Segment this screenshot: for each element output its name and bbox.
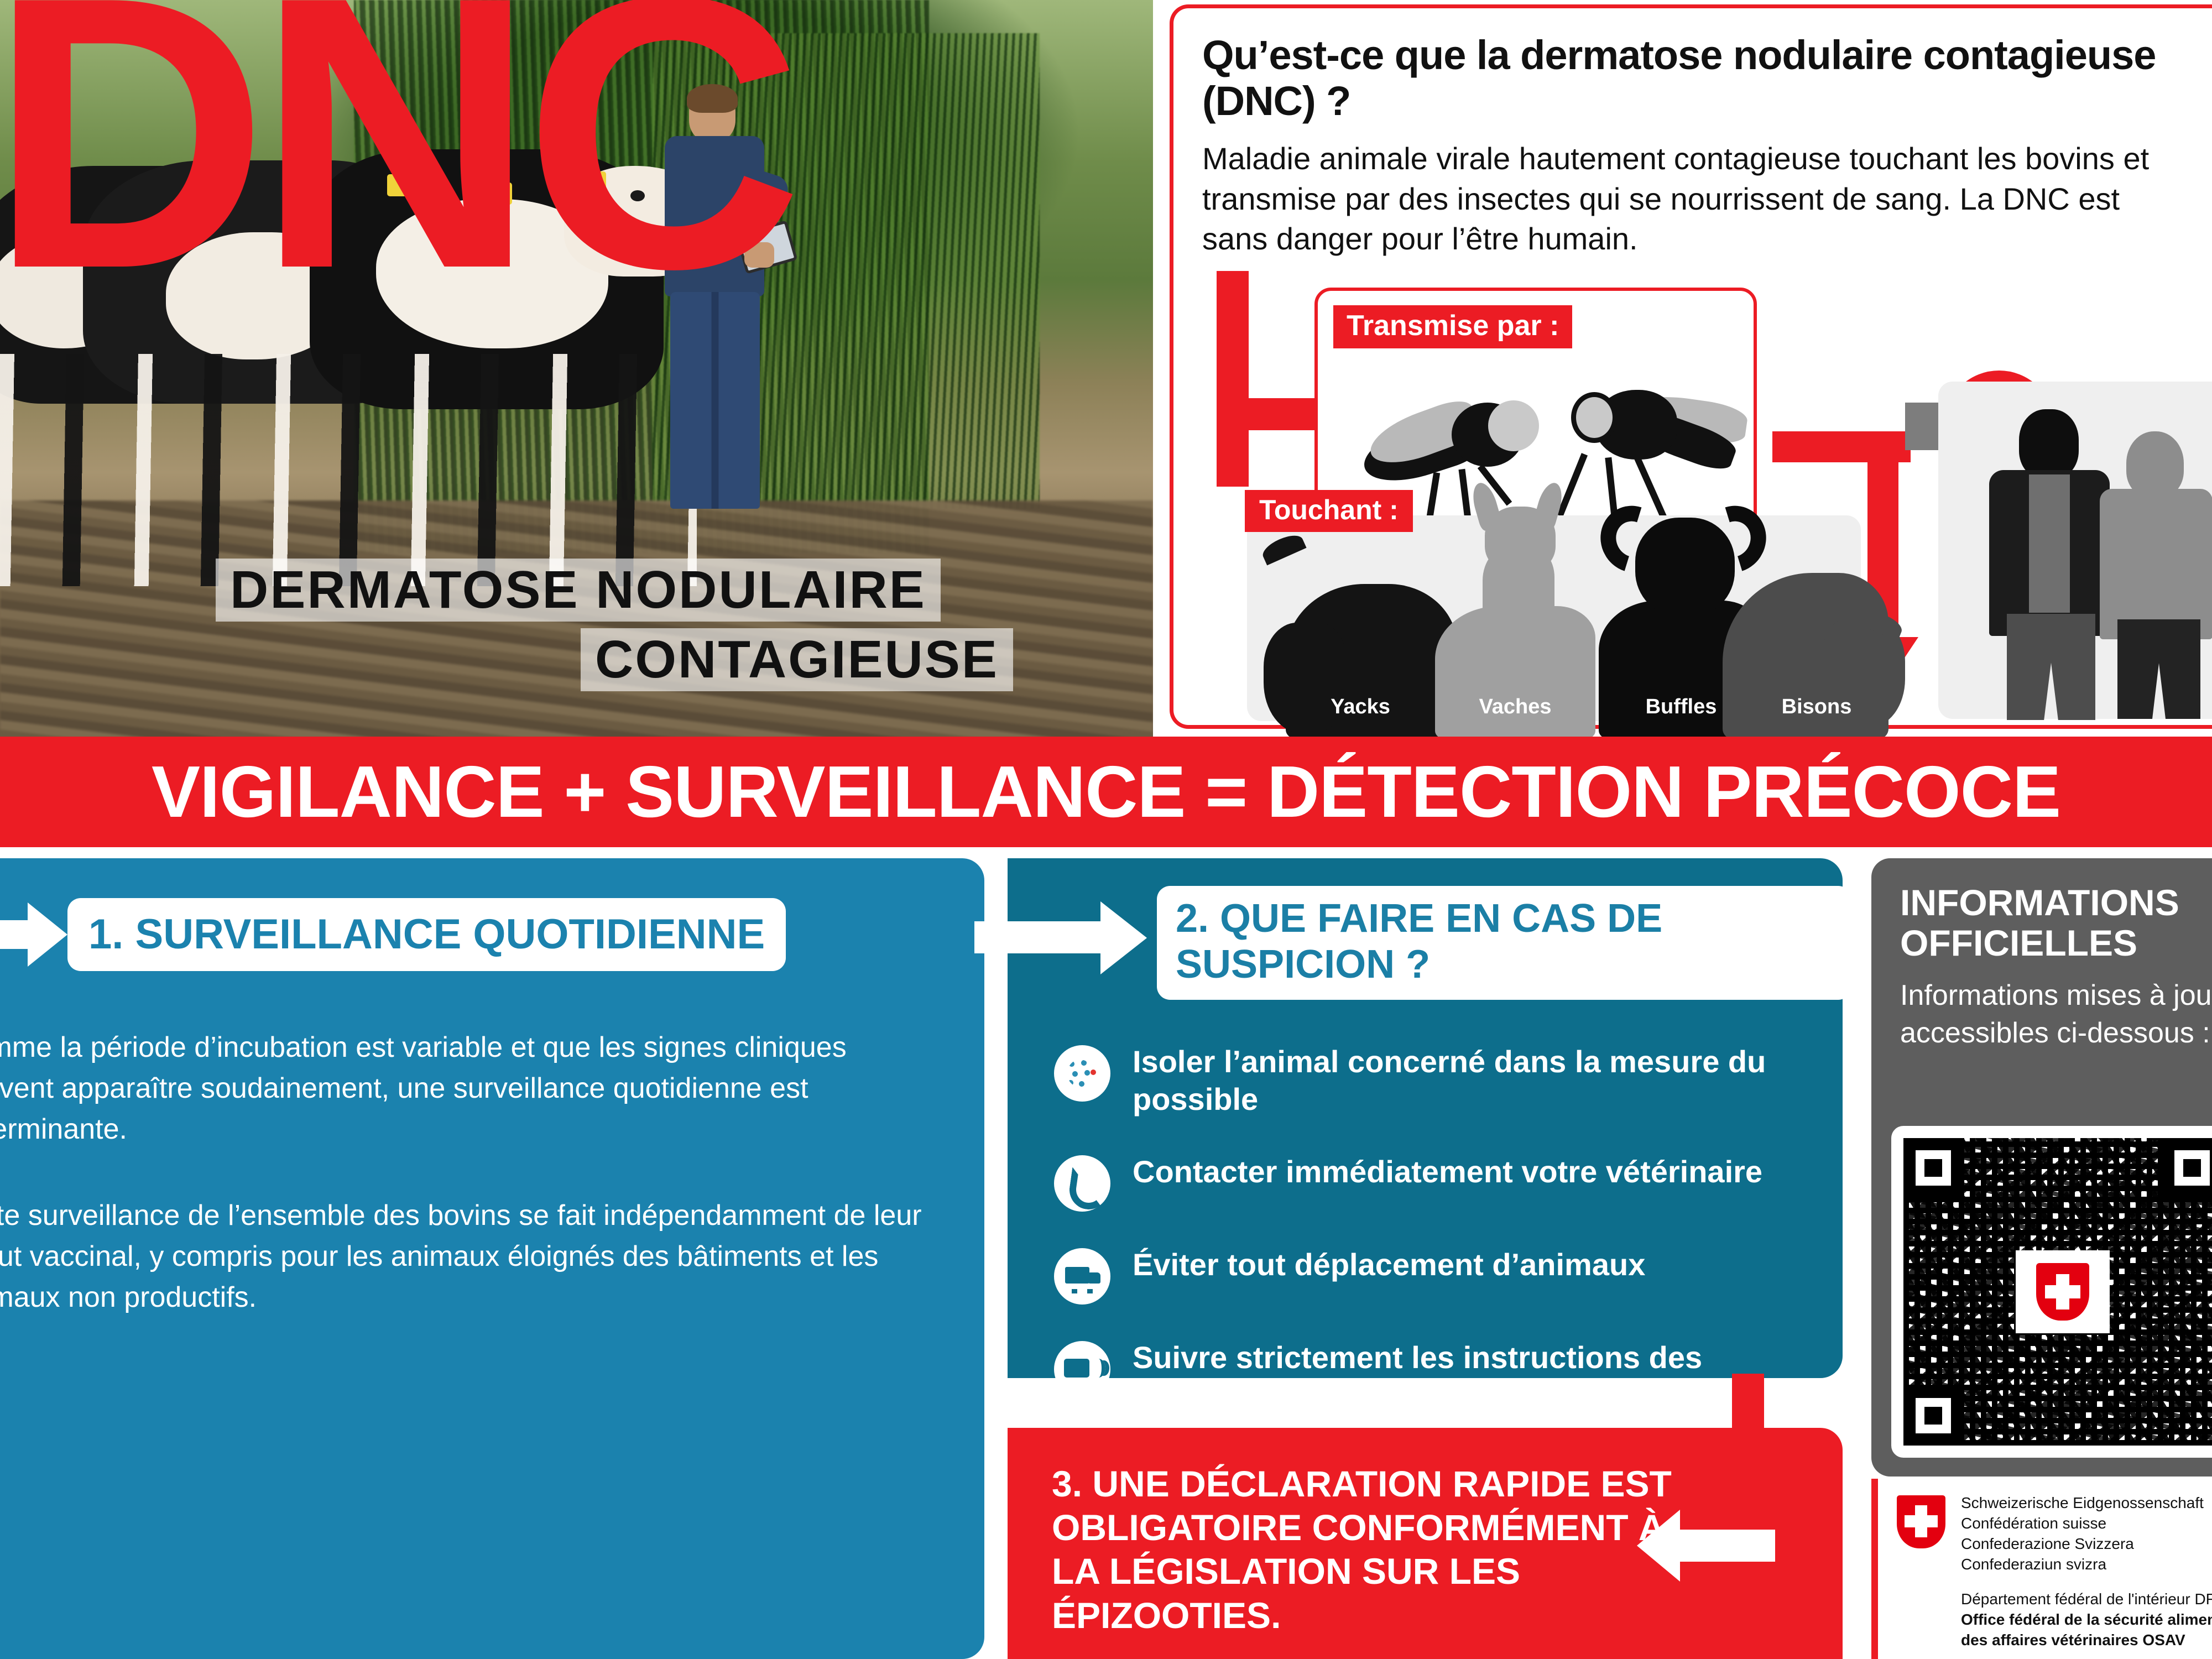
- swiss-shield-icon: [2016, 1250, 2110, 1333]
- truck-icon: [1054, 1248, 1110, 1305]
- logo-department: Département fédéral de l'intérieur DFI: [1961, 1589, 2212, 1610]
- man-silhouette-icon: [1986, 409, 2113, 719]
- section2-title: 2. QUE FAIRE EN CAS DE SUSPICION ?: [1157, 886, 1851, 1000]
- woman-silhouette-icon: [2098, 431, 2212, 719]
- red-connector: [1217, 271, 1249, 487]
- hero-photo-panel: DNC DERMATOSE NODULAIRE CONTAGIEUSE: [0, 0, 1153, 738]
- transmitted-by-label: Transmise par :: [1333, 305, 1572, 348]
- red-connector: [1217, 398, 1322, 430]
- dnc-logotype: DNC: [0, 0, 1153, 321]
- transmission-diagram: Transmise par : Taons Mouches piqueuses …: [1170, 265, 2212, 730]
- cow-icon: Vaches: [1424, 501, 1606, 739]
- qr-finder-icon: [1903, 1386, 1963, 1446]
- side-heading-line-2: OFFICIELLES: [1900, 923, 2212, 963]
- bison-icon: Bisons: [1723, 529, 1911, 739]
- title-line-2: CONTAGIEUSE: [581, 628, 1013, 691]
- phone-icon: [1054, 1155, 1110, 1212]
- logo-office-line-1: Office fédéral de la sécurité alimentair…: [1961, 1610, 2212, 1630]
- isolate-icon: [1054, 1045, 1110, 1102]
- action-list: Isoler l’animal concerné dans la mesure …: [1054, 1043, 1839, 1448]
- megaphone-icon: [1054, 1341, 1110, 1397]
- animal-label-bisons: Bisons: [1723, 695, 1911, 719]
- swiss-shield-icon: [1897, 1495, 1945, 1548]
- logo-line-it: Confederazione Svizzera: [1961, 1534, 2212, 1554]
- list-item: Suivre strictement les instructions des …: [1054, 1339, 1839, 1415]
- section-daily-surveillance: 1. SURVEILLANCE QUOTIDIENNE Comme la pér…: [0, 858, 984, 1659]
- qr-finder-icon: [2162, 1138, 2212, 1198]
- action-label: Éviter tout déplacement d’animaux: [1133, 1246, 1645, 1284]
- poster-title: DERMATOSE NODULAIRE CONTAGIEUSE: [216, 559, 1150, 691]
- arrow-right-icon: [0, 902, 66, 967]
- section3-text: 3. UNE DÉCLARATION RAPIDE EST OBLIGATOIR…: [1052, 1462, 1693, 1637]
- info-paragraph: Maladie animale virale hautement contagi…: [1202, 139, 2187, 259]
- qr-code-icon[interactable]: [1903, 1138, 2212, 1446]
- slogan-banner: VIGILANCE + SURVEILLANCE = DÉTECTION PRÉ…: [0, 737, 2212, 847]
- humans-box: [1938, 382, 2212, 719]
- title-line-1: DERMATOSE NODULAIRE: [216, 559, 941, 622]
- qr-finder-icon: [1903, 1138, 1963, 1198]
- cow-legs: [0, 354, 697, 586]
- action-label: Contacter immédiatement votre vétérinair…: [1133, 1153, 1762, 1191]
- affecting-label: Touchant :: [1245, 490, 1413, 532]
- arrow-right-icon: [974, 901, 1151, 974]
- section1-paragraph-2: Cette surveillance de l’ensemble des bov…: [0, 1196, 925, 1318]
- list-item: Isoler l’animal concerné dans la mesure …: [1054, 1043, 1839, 1119]
- section1-title: 1. SURVEILLANCE QUOTIDIENNE: [67, 898, 786, 971]
- swiss-confederation-logo: Schweizerische Eidgenossenschaft Confédé…: [1897, 1493, 2212, 1659]
- arrow-left-icon: [1637, 1510, 1775, 1582]
- logo-line-fr: Confédération suisse: [1961, 1514, 2212, 1534]
- affected-animals-box: Touchant : Yacks Vaches Buffles Bisons: [1247, 515, 1861, 721]
- animal-label-vaches: Vaches: [1424, 695, 1606, 719]
- action-label: Isoler l’animal concerné dans la mesure …: [1133, 1043, 1839, 1119]
- logo-line-rm: Confederaziun svizra: [1961, 1554, 2212, 1575]
- official-information-panel: INFORMATIONS OFFICIELLES Informations mi…: [1871, 858, 2212, 1477]
- list-item: Éviter tout déplacement d’animaux: [1054, 1246, 1839, 1305]
- poster-root: DNC DERMATOSE NODULAIRE CONTAGIEUSE Qu’e…: [0, 0, 2212, 1659]
- logo-office-line-2: des affaires vétérinaires OSAV: [1961, 1630, 2212, 1651]
- qr-code-container[interactable]: [1891, 1126, 2212, 1458]
- section1-paragraph-1: Comme la période d’incubation est variab…: [0, 1027, 925, 1150]
- section-what-to-do: 2. QUE FAIRE EN CAS DE SUSPICION ? Isole…: [1008, 858, 1843, 1378]
- side-heading-line-1: INFORMATIONS: [1900, 883, 2212, 923]
- list-item: Contacter immédiatement votre vétérinair…: [1054, 1153, 1839, 1212]
- side-paragraph: Informations mises à jour accessibles ci…: [1900, 977, 2212, 1052]
- info-heading: Qu’est-ce que la dermatose nodulaire con…: [1202, 33, 2187, 124]
- red-accent-bar: [1871, 1479, 1878, 1659]
- logo-line-de: Schweizerische Eidgenossenschaft: [1961, 1493, 2212, 1514]
